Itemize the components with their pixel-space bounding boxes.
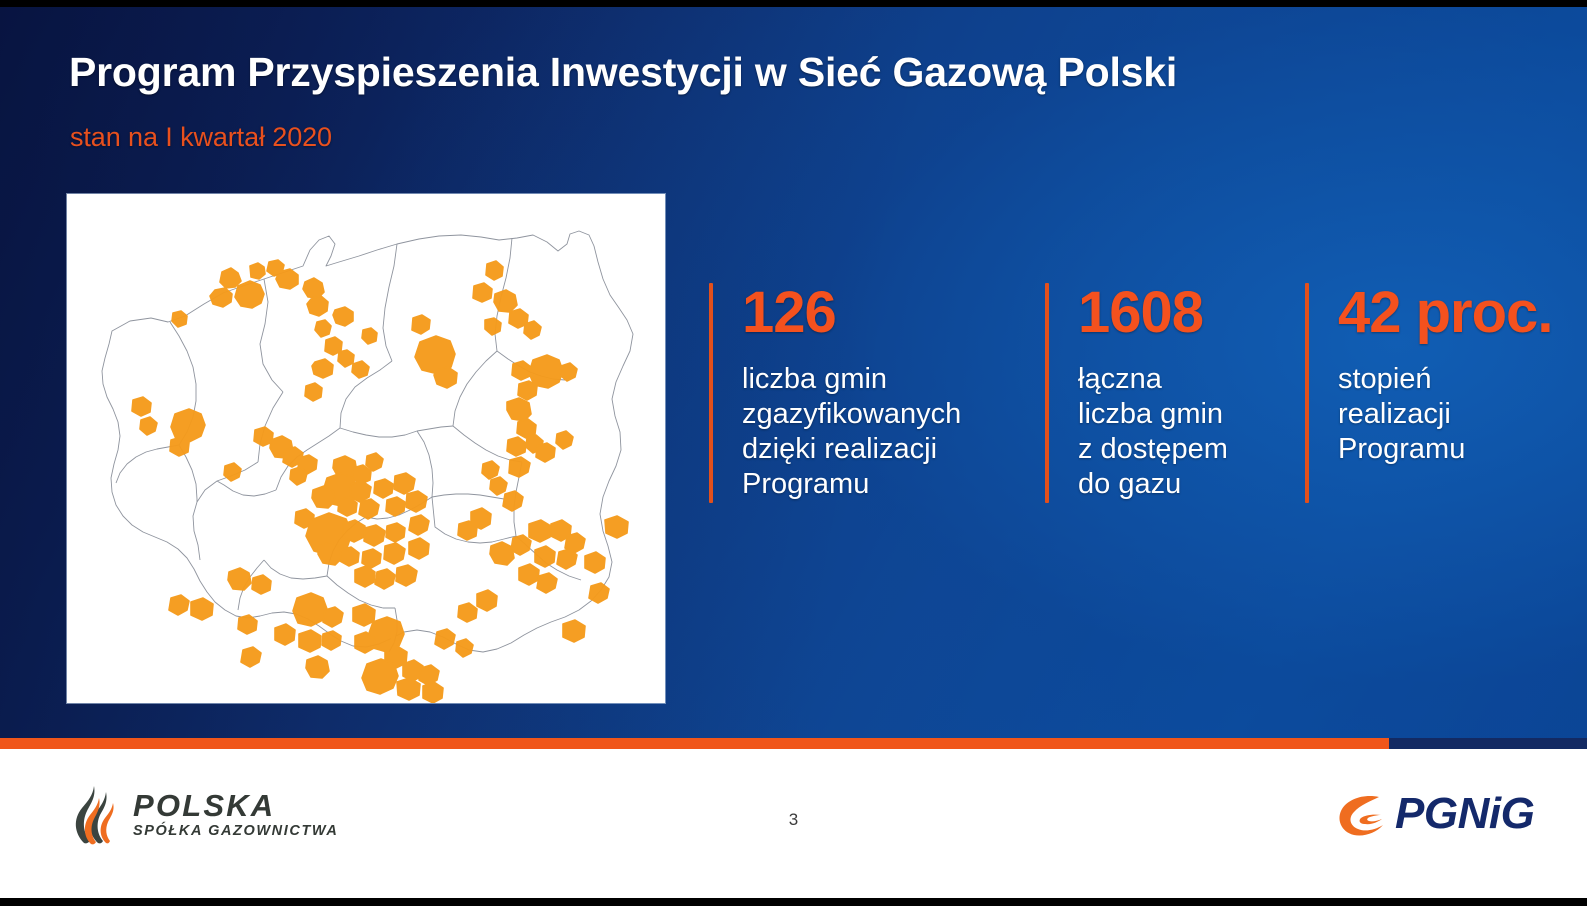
stat-description: łączna liczba gmin z dostępem do gazu: [1078, 362, 1228, 502]
psg-subname: SPÓŁKA GAZOWNICTWA: [133, 822, 338, 840]
stat-value: 126: [742, 285, 961, 341]
pgnig-wordmark: PGNiG: [1395, 792, 1534, 836]
stat-block-2: 1608 łączna liczba gmin z dostępem do ga…: [1045, 283, 1305, 503]
stat-value: 1608: [1078, 285, 1228, 341]
footer-orange-rule: [0, 738, 1389, 749]
pgnig-swirl-icon: [1335, 790, 1387, 838]
letterbox-bottom: [0, 898, 1587, 906]
pgnig-logo: PGNiG: [1335, 790, 1534, 838]
psg-wordmark: POLSKA SPÓŁKA GAZOWNICTWA: [133, 789, 338, 840]
stat-description: liczba gmin zgazyfikowanych dzięki reali…: [742, 362, 961, 502]
slide-root: Program Przyspieszenia Inwestycji w Sieć…: [0, 0, 1587, 906]
stat-value: 42 proc.: [1338, 285, 1552, 341]
statistics-group: 126 liczba gmin zgazyfikowanych dzięki r…: [709, 283, 1587, 503]
stat-block-3: 42 proc. stopień realizacji Programu: [1305, 283, 1587, 503]
slide-stage: Program Przyspieszenia Inwestycji w Sieć…: [0, 7, 1587, 738]
letterbox-top: [0, 0, 1587, 7]
psg-name: POLSKA: [133, 789, 338, 822]
page-subtitle: stan na I kwartał 2020: [70, 122, 332, 153]
page-title: Program Przyspieszenia Inwestycji w Sieć…: [69, 49, 1177, 96]
stat-description: stopień realizacji Programu: [1338, 362, 1552, 467]
poland-map-svg: [67, 194, 665, 703]
flame-icon: [70, 783, 122, 845]
stat-block-1: 126 liczba gmin zgazyfikowanych dzięki r…: [709, 283, 1045, 503]
footer-navy-rule: [1389, 738, 1587, 749]
poland-map-panel: [67, 194, 665, 703]
psg-logo: POLSKA SPÓŁKA GAZOWNICTWA: [70, 783, 338, 845]
